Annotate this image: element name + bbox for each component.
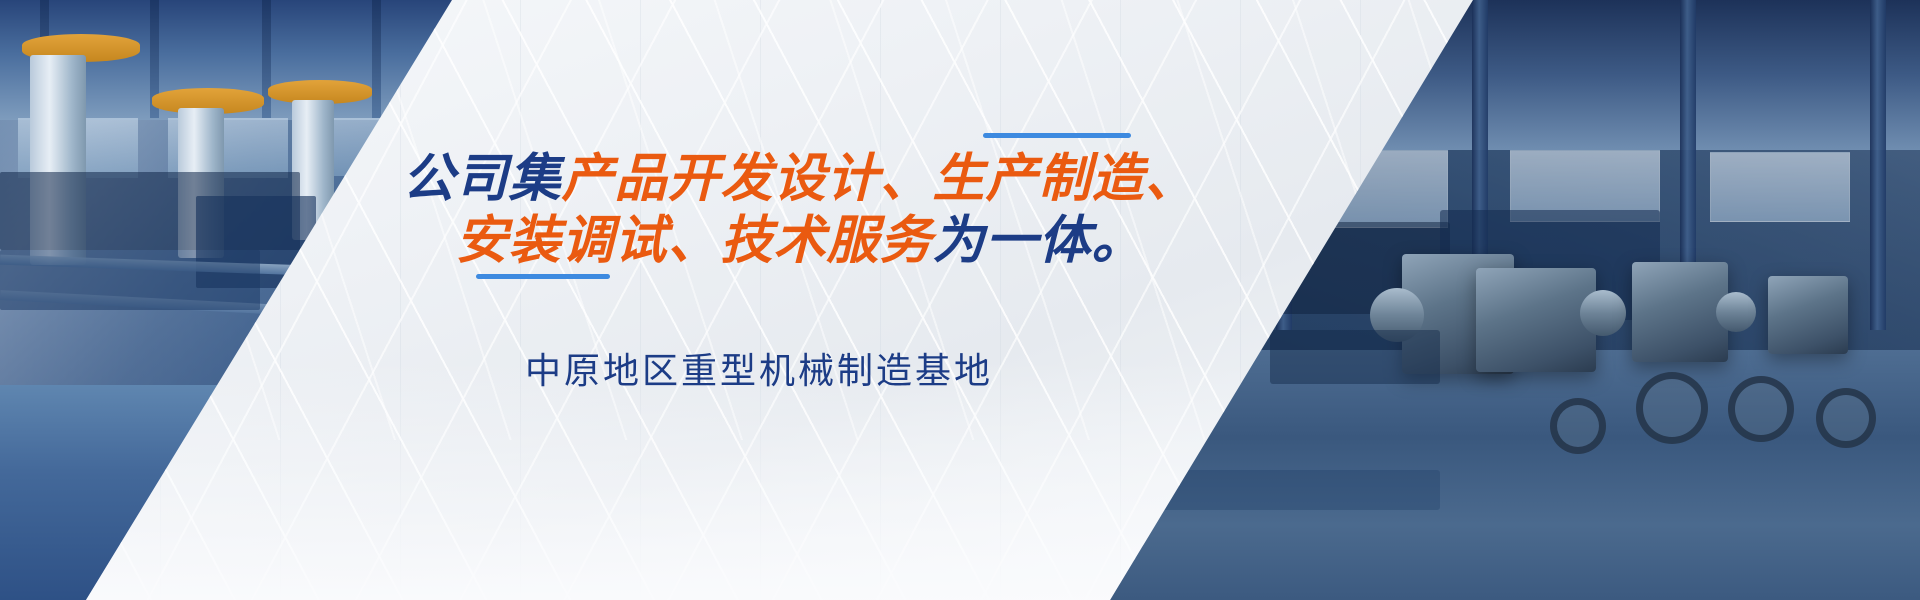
- headline-line-2: 安装调试、技术服务为一体。: [0, 210, 1600, 272]
- headline: 公司集产品开发设计、生产制造、 安装调试、技术服务为一体。: [0, 148, 1600, 272]
- banner-content: 公司集产品开发设计、生产制造、 安装调试、技术服务为一体。 中原地区重型机械制造…: [0, 0, 1920, 600]
- subtitle: 中原地区重型机械制造基地: [0, 348, 1518, 394]
- headline-line1-orange: 产品开发设计、生产制造、: [562, 150, 1198, 208]
- accent-rule-bottom: [476, 274, 610, 279]
- accent-rule-top: [983, 133, 1131, 138]
- headline-line2-orange: 安装调试、技术服务: [455, 212, 932, 270]
- headline-line2-navy: 为一体。: [933, 212, 1145, 270]
- headline-line-1: 公司集产品开发设计、生产制造、: [0, 148, 1600, 210]
- headline-line1-navy: 公司集: [402, 150, 561, 208]
- hero-banner: 公司集产品开发设计、生产制造、 安装调试、技术服务为一体。 中原地区重型机械制造…: [0, 0, 1920, 600]
